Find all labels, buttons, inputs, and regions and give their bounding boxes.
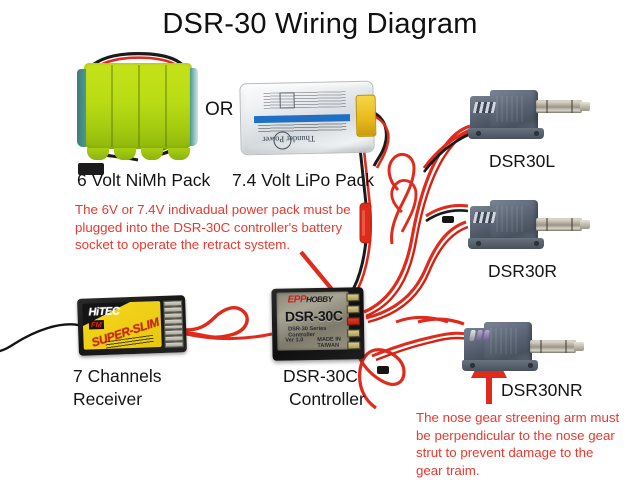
controller-origin-text: MADE IN TAIWAN: [317, 336, 349, 349]
retract-left-label: DSR30L: [489, 151, 555, 172]
retract-vents: [473, 212, 496, 223]
mounting-hole: [476, 131, 481, 136]
nimh-side-shrink: [190, 68, 198, 146]
zip-tie-lower: [377, 366, 389, 374]
lipo-brand-text: Thunder Power: [262, 134, 315, 145]
wiring-diagram-canvas: DSR-30 Wiring Diagram Thunder Power HiTE…: [0, 0, 640, 480]
controller-socket[interactable]: [347, 341, 360, 349]
controller-label-line2: Controller: [289, 389, 365, 410]
receiver-label-line2: Receiver: [73, 389, 142, 410]
retract-vents: [473, 102, 496, 113]
controller-version-text: Ver 1.0: [285, 337, 303, 343]
nimh-side-shrink: [77, 69, 86, 147]
retract-body: [484, 322, 532, 364]
channel-pin[interactable]: [165, 341, 184, 348]
controller-socket-bank: [346, 293, 360, 349]
hitec-brand-text: HiTEC: [88, 305, 119, 318]
strut-tip: [580, 220, 590, 229]
epp-brand-text: EPPHOBBY: [287, 294, 332, 306]
page-title: DSR-30 Wiring Diagram: [0, 8, 640, 41]
steering-arm-pin: [469, 330, 476, 341]
strut-tip: [574, 342, 584, 351]
receiver-label-line1: 7 Channels: [73, 366, 162, 387]
steering-arm-pin: [483, 330, 490, 341]
or-label: OR: [205, 99, 234, 121]
nimh-cell-divider: [111, 65, 113, 147]
nimh-cell-divider: [165, 65, 167, 147]
dsr30c-controller: EPPHOBBY DSR-30C DSR-30 Series Controlle…: [271, 287, 364, 361]
epp-brand-suffix: HOBBY: [306, 295, 333, 304]
zip-tie-upper: [442, 216, 454, 223]
lipo-warning-mark-icon: [279, 92, 294, 108]
nimh-battery-pack: [84, 63, 192, 156]
mounting-hole: [476, 241, 481, 246]
controller-label-line1: DSR-30C: [283, 366, 358, 387]
retract-unit-left: [468, 86, 598, 144]
steering-arm-pin: [476, 330, 483, 341]
strut-tip: [580, 102, 590, 111]
controller-model-text: DSR-30C: [285, 308, 343, 325]
nimh-cell-divider: [138, 65, 140, 147]
receiver-label: HiTEC FM SUPER-SLIM: [82, 301, 162, 350]
controller-socket[interactable]: [347, 329, 360, 337]
receiver-channel-pins: [163, 300, 184, 348]
lipo-battery-pack: Thunder Power: [239, 81, 372, 154]
nose-gear-warning-text: The nose gear streening arm must be perp…: [416, 409, 640, 479]
retract-body: [490, 90, 538, 132]
retract-nose-label: DSR30NR: [501, 380, 583, 401]
lipo-spec-text-block: [263, 91, 345, 109]
receiver-band-text: FM: [89, 320, 104, 330]
mounting-hole: [534, 131, 539, 136]
retract-strut: [530, 340, 576, 353]
mounting-hole: [528, 363, 533, 368]
retract-unit-nose: [462, 318, 592, 376]
controller-battery-socket[interactable]: [347, 317, 360, 325]
mounting-hole: [470, 363, 475, 368]
retract-strut: [536, 218, 582, 231]
antenna-wire: [0, 324, 78, 351]
mounting-hole: [534, 241, 539, 246]
lipo-pack-label: 7.4 Volt LiPo Pack: [232, 170, 374, 191]
pigtail-dsr30nr-red: [418, 319, 464, 324]
retract-strut: [536, 100, 582, 113]
lipo-terminal-tab: [356, 95, 377, 137]
retract-unit-right: [468, 196, 598, 254]
retract-body: [490, 200, 538, 242]
nose-gear-steering-arm: [470, 330, 492, 340]
controller-socket[interactable]: [346, 293, 359, 301]
battery-warning-text: The 6V or 7.4V indivadual power pack mus…: [75, 201, 385, 254]
retract-right-label: DSR30R: [488, 261, 557, 282]
nimh-pack-label: 6 Volt NiMh Pack: [77, 170, 210, 191]
controller-faceplate: EPPHOBBY DSR-30C DSR-30 Series Controlle…: [276, 291, 349, 350]
hitec-receiver: HiTEC FM SUPER-SLIM: [77, 295, 187, 356]
controller-socket[interactable]: [347, 305, 360, 313]
epp-brand-main: EPP: [287, 294, 306, 305]
